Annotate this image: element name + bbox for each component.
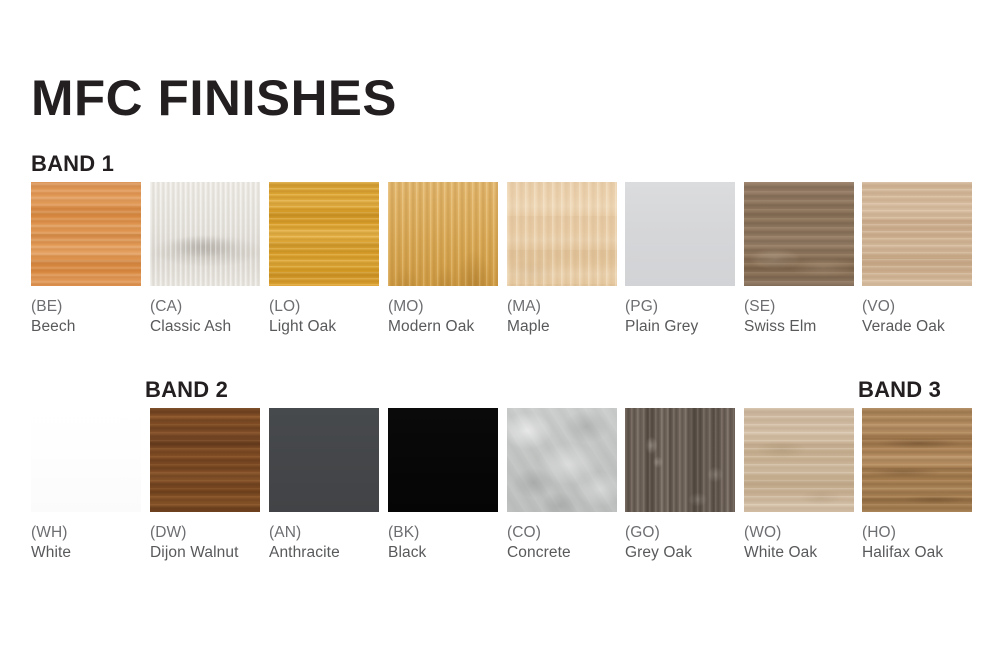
swatch-label-white: (WH) White	[31, 523, 141, 563]
swatch-chip-swiss-elm[interactable]	[744, 182, 854, 286]
swatch-grey-oak[interactable]: (GO) Grey Oak	[625, 408, 735, 563]
swatch-code-verade-oak: (VO)	[862, 297, 972, 317]
band-heading-3: BAND 3	[858, 379, 941, 401]
swatch-name-halifax-oak: Halifax Oak	[862, 543, 972, 563]
swatch-chip-verade-oak[interactable]	[862, 182, 972, 286]
swatch-chip-light-oak[interactable]	[269, 182, 379, 286]
swatch-chip-plain-grey[interactable]	[625, 182, 735, 286]
swatch-light-oak[interactable]: (LO) Light Oak	[269, 182, 379, 337]
swatch-name-modern-oak: Modern Oak	[388, 317, 498, 337]
swatch-chip-anthracite[interactable]	[269, 408, 379, 512]
swatch-chip-grey-oak[interactable]	[625, 408, 735, 512]
swatch-name-dijon-walnut: Dijon Walnut	[150, 543, 260, 563]
swatch-label-black: (BK) Black	[388, 523, 498, 563]
swatch-label-plain-grey: (PG) Plain Grey	[625, 297, 735, 337]
swatch-code-black: (BK)	[388, 523, 498, 543]
mfc-finishes-page: { "page": { "title": "MFC FINISHES", "ba…	[0, 0, 1000, 666]
swatch-white-oak[interactable]: (WO) White Oak	[744, 408, 854, 563]
swatch-name-concrete: Concrete	[507, 543, 617, 563]
swatch-code-halifax-oak: (HO)	[862, 523, 972, 543]
swatch-name-white: White	[31, 543, 141, 563]
swatch-code-white-oak: (WO)	[744, 523, 854, 543]
swatch-name-swiss-elm: Swiss Elm	[744, 317, 854, 337]
band-heading-1: BAND 1	[31, 153, 114, 175]
swatch-verade-oak[interactable]: (VO) Verade Oak	[862, 182, 972, 337]
swatch-chip-white-oak[interactable]	[744, 408, 854, 512]
swatch-name-black: Black	[388, 543, 498, 563]
swatch-dijon-walnut[interactable]: (DW) Dijon Walnut	[150, 408, 260, 563]
swatch-name-beech: Beech	[31, 317, 141, 337]
swatch-label-halifax-oak: (HO) Halifax Oak	[862, 523, 972, 563]
swatch-name-white-oak: White Oak	[744, 543, 854, 563]
swatch-black[interactable]: (BK) Black	[388, 408, 498, 563]
swatch-label-light-oak: (LO) Light Oak	[269, 297, 379, 337]
swatch-modern-oak[interactable]: (MO) Modern Oak	[388, 182, 498, 337]
swatch-label-dijon-walnut: (DW) Dijon Walnut	[150, 523, 260, 563]
swatch-name-classic-ash: Classic Ash	[150, 317, 260, 337]
swatch-chip-dijon-walnut[interactable]	[150, 408, 260, 512]
band-heading-2: BAND 2	[145, 379, 228, 401]
swatch-chip-maple[interactable]	[507, 182, 617, 286]
swatch-name-anthracite: Anthracite	[269, 543, 379, 563]
swatch-plain-grey[interactable]: (PG) Plain Grey	[625, 182, 735, 337]
swatch-swiss-elm[interactable]: (SE) Swiss Elm	[744, 182, 854, 337]
page-title: MFC FINISHES	[31, 73, 397, 123]
swatch-code-plain-grey: (PG)	[625, 297, 735, 317]
swatch-code-swiss-elm: (SE)	[744, 297, 854, 317]
swatch-label-maple: (MA) Maple	[507, 297, 617, 337]
swatch-label-anthracite: (AN) Anthracite	[269, 523, 379, 563]
swatch-code-light-oak: (LO)	[269, 297, 379, 317]
swatch-code-beech: (BE)	[31, 297, 141, 317]
swatch-label-concrete: (CO) Concrete	[507, 523, 617, 563]
swatch-code-classic-ash: (CA)	[150, 297, 260, 317]
swatch-label-classic-ash: (CA) Classic Ash	[150, 297, 260, 337]
swatch-chip-concrete[interactable]	[507, 408, 617, 512]
swatch-chip-beech[interactable]	[31, 182, 141, 286]
swatch-chip-classic-ash[interactable]	[150, 182, 260, 286]
swatch-classic-ash[interactable]: (CA) Classic Ash	[150, 182, 260, 337]
swatch-chip-modern-oak[interactable]	[388, 182, 498, 286]
swatch-chip-white[interactable]	[31, 408, 141, 512]
swatch-label-beech: (BE) Beech	[31, 297, 141, 337]
swatch-label-verade-oak: (VO) Verade Oak	[862, 297, 972, 337]
swatch-chip-black[interactable]	[388, 408, 498, 512]
swatch-halifax-oak[interactable]: (HO) Halifax Oak	[862, 408, 972, 563]
swatch-chip-halifax-oak[interactable]	[862, 408, 972, 512]
swatch-code-dijon-walnut: (DW)	[150, 523, 260, 543]
swatch-name-plain-grey: Plain Grey	[625, 317, 735, 337]
swatch-concrete[interactable]: (CO) Concrete	[507, 408, 617, 563]
swatch-code-anthracite: (AN)	[269, 523, 379, 543]
swatch-maple[interactable]: (MA) Maple	[507, 182, 617, 337]
swatch-label-white-oak: (WO) White Oak	[744, 523, 854, 563]
swatch-code-maple: (MA)	[507, 297, 617, 317]
swatch-code-grey-oak: (GO)	[625, 523, 735, 543]
swatch-white[interactable]: (WH) White	[31, 408, 141, 563]
swatch-label-swiss-elm: (SE) Swiss Elm	[744, 297, 854, 337]
swatch-label-grey-oak: (GO) Grey Oak	[625, 523, 735, 563]
swatch-code-modern-oak: (MO)	[388, 297, 498, 317]
swatch-name-light-oak: Light Oak	[269, 317, 379, 337]
swatch-anthracite[interactable]: (AN) Anthracite	[269, 408, 379, 563]
swatch-name-maple: Maple	[507, 317, 617, 337]
swatch-name-verade-oak: Verade Oak	[862, 317, 972, 337]
swatch-code-white: (WH)	[31, 523, 141, 543]
swatch-beech[interactable]: (BE) Beech	[31, 182, 141, 337]
swatch-code-concrete: (CO)	[507, 523, 617, 543]
swatch-name-grey-oak: Grey Oak	[625, 543, 735, 563]
swatch-row-band-1: (BE) Beech (CA) Classic Ash (LO) Light O…	[31, 182, 973, 342]
swatch-row-band-2-and-3: (WH) White (DW) Dijon Walnut (AN) Anthra…	[31, 408, 973, 568]
swatch-label-modern-oak: (MO) Modern Oak	[388, 297, 498, 337]
